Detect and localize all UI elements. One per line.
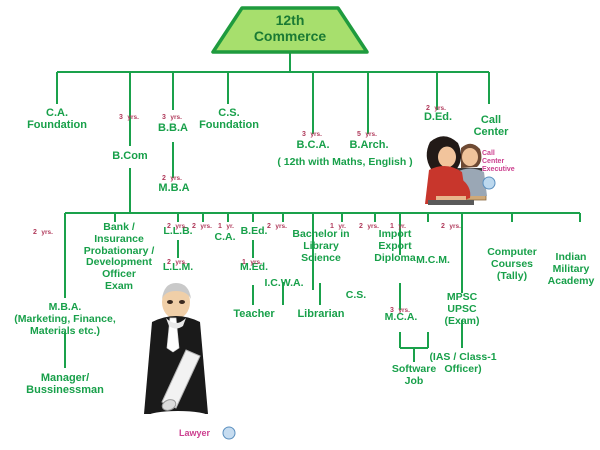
career-pathway-diagram: 12th Commerce C.A. Foundation B.Com B.B.… xyxy=(0,0,600,450)
lawyer-bullet-icon xyxy=(0,0,600,450)
root-node-12th-commerce: 12th Commerce xyxy=(232,12,348,44)
root-line-1: 12th xyxy=(232,12,348,28)
root-line-2: Commerce xyxy=(232,28,348,44)
